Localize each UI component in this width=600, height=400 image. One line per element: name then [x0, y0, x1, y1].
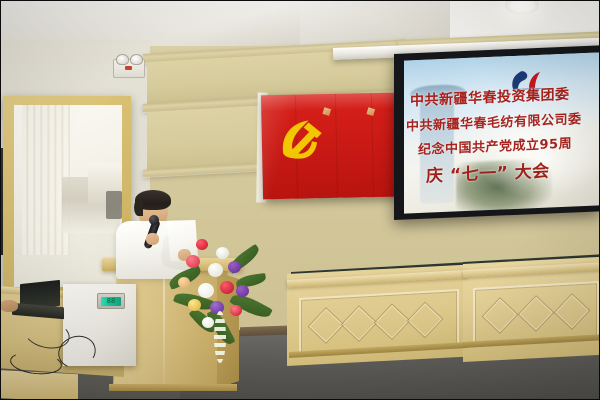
desk-diamond-1: [308, 307, 345, 344]
flower-cascade-trail: [214, 311, 226, 363]
equipment-display-panel: 88: [97, 293, 125, 309]
flower-purple-1: [228, 261, 241, 273]
desk-diamond-2: [341, 305, 378, 342]
flower-purple-2: [236, 285, 249, 297]
flower-yellow-1: [188, 299, 201, 311]
projection-screen-surface: 中共新疆华春投资集团委 中共新疆华春毛纺有限公司委 纪念中国共产党成立95周 庆…: [404, 52, 600, 213]
flower-cream-1: [178, 277, 190, 288]
equipment-display-value: 88: [101, 297, 121, 306]
communist-party-of-china-flag: [261, 93, 399, 200]
speaker-hair-side: [134, 199, 143, 216]
speaker-hand-left: [146, 233, 159, 245]
slide-line-2: 中共新疆华春毛纺有限公司委: [404, 107, 600, 134]
lectern-base: [109, 384, 237, 391]
flower-lily-1: [198, 283, 214, 298]
desk-diamond-4: [407, 302, 444, 339]
flower-red-2: [220, 281, 234, 294]
flag-pin-left: [322, 107, 331, 116]
lectern-front-edge: [163, 270, 165, 390]
flower-red-3: [230, 305, 242, 316]
floral-arrangement: [172, 237, 266, 362]
flower-white-1: [216, 247, 229, 259]
emergency-lamp-left-icon: [116, 54, 129, 65]
stage-front-desk: [287, 260, 600, 370]
slide-line-3: 纪念中国共产党成立95周: [404, 131, 600, 158]
flag-pin-right: [366, 107, 375, 116]
emergency-light-fixture: [113, 59, 145, 78]
emergency-light-indicator: [125, 66, 132, 70]
conference-hall-photo: 中共新疆华春投资集团委 中共新疆华春毛纺有限公司委 纪念中国共产党成立95周 庆…: [0, 0, 600, 400]
flower-white-2: [208, 263, 223, 277]
hammer-and-sickle-emblem: [278, 116, 325, 161]
desk-diamond-5: [482, 297, 519, 334]
slide-text-block: 中共新疆华春投资集团委 中共新疆华春毛纺有限公司委 纪念中国共产党成立95周 庆…: [404, 82, 600, 187]
operator-hand: [0, 300, 18, 312]
desk-diamond-6: [518, 295, 555, 332]
desk-diamond-3: [374, 303, 411, 340]
microphone-capsule: [149, 215, 159, 225]
flower-white-3: [202, 317, 214, 328]
desk-diamond-7: [554, 293, 591, 330]
projection-screen-frame: 中共新疆华春投资集团委 中共新疆华春毛纺有限公司委 纪念中国共产党成立95周 庆…: [394, 45, 600, 220]
party-flag-assembly: [261, 93, 399, 200]
flower-pink-1: [186, 255, 200, 268]
flower-red-1: [196, 239, 208, 250]
emergency-lamp-right-icon: [130, 54, 143, 65]
